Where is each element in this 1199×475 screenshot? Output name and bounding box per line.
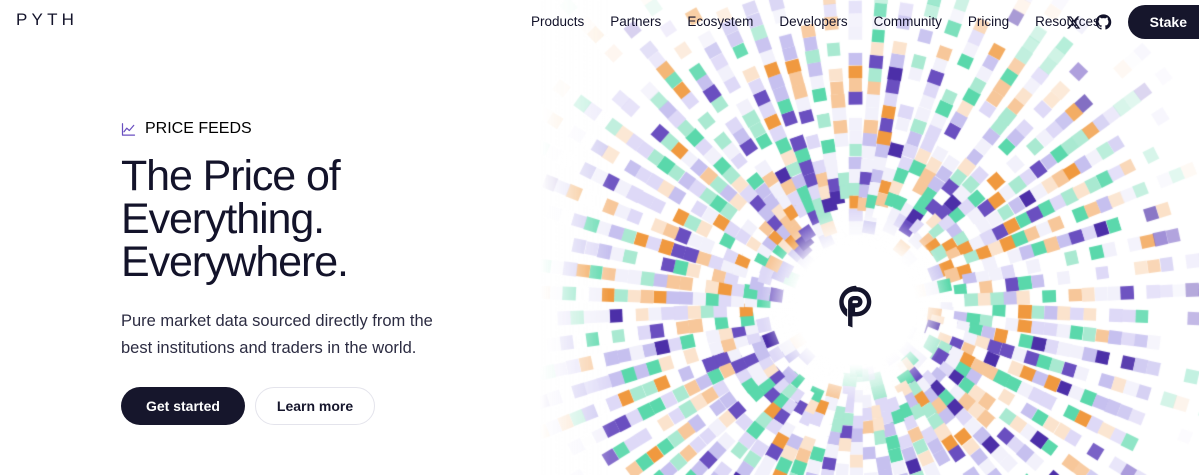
eyebrow-label: PRICE FEEDS [145,120,252,138]
eyebrow: PRICE FEEDS [121,120,541,138]
stake-button[interactable]: Stake [1128,5,1199,39]
pyth-p-mark [836,284,876,328]
nav-item-ecosystem[interactable]: Ecosystem [674,13,766,31]
burst-canvas [540,0,1199,475]
line-chart-icon [121,122,136,137]
get-started-button[interactable]: Get started [121,387,245,425]
nav-item-community[interactable]: Community [861,13,955,31]
page-title: The Price of Everything. Everywhere. [121,155,541,284]
cta-row: Get started Learn more [121,387,541,425]
site-header: PYTH Products Partners Ecosystem Develop… [0,0,1199,44]
github-icon[interactable] [1089,7,1119,37]
header-actions: Stake [1059,0,1199,44]
nav-item-developers[interactable]: Developers [766,13,860,31]
x-twitter-icon[interactable] [1059,7,1089,37]
nav-item-products[interactable]: Products [531,13,597,31]
nav-item-partners[interactable]: Partners [597,13,674,31]
pyth-landing-page: PYTH Products Partners Ecosystem Develop… [0,0,1199,475]
main-navigation: Products Partners Ecosystem Developers C… [531,13,1113,31]
radial-price-burst-graphic [540,0,1199,475]
hero-section: PRICE FEEDS The Price of Everything. Eve… [121,120,541,425]
hero-subtitle: Pure market data sourced directly from t… [121,308,461,361]
nav-item-pricing[interactable]: Pricing [955,13,1022,31]
pyth-logo[interactable]: PYTH [16,11,78,28]
learn-more-button[interactable]: Learn more [255,387,375,425]
